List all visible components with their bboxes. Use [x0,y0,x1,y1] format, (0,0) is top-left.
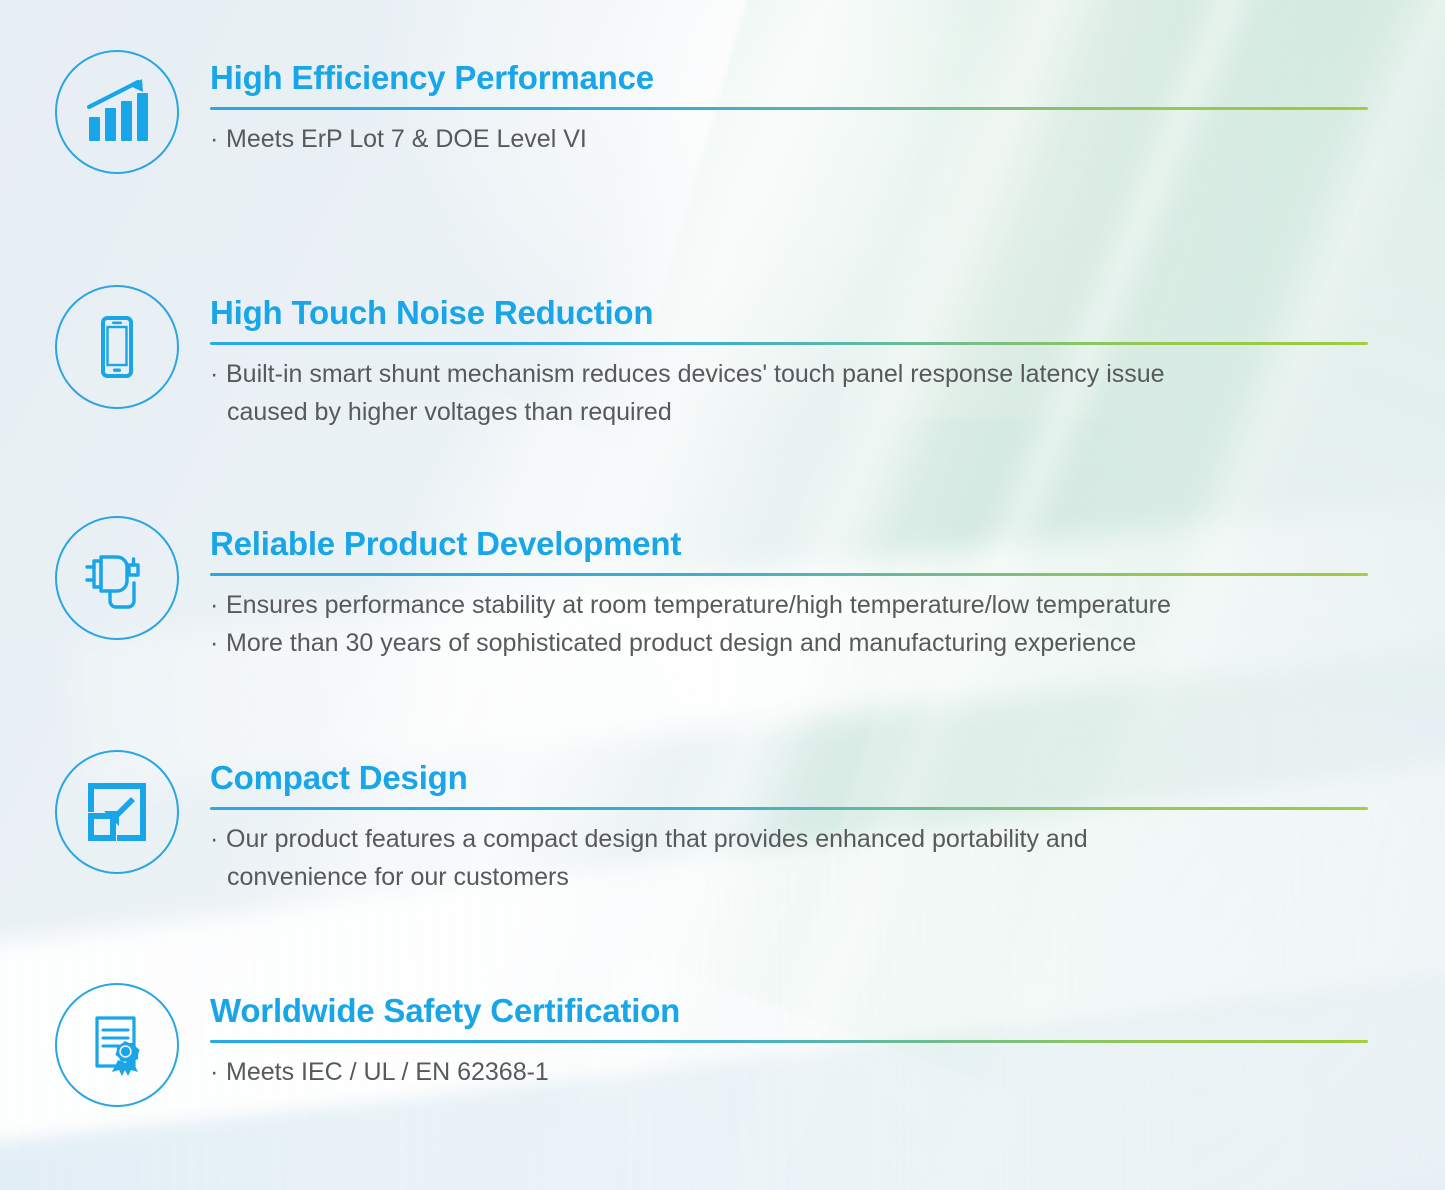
feature-highlights-page: High Efficiency Performance ·Meets ErP L… [0,0,1445,1190]
bullet-item: ·Our product features a compact design t… [210,820,1370,858]
bullet-text: More than 30 years of sophisticated prod… [226,629,1136,657]
feature-body: High Efficiency Performance ·Meets ErP L… [210,58,1370,158]
feature-bullets: ·Ensures performance stability at room t… [210,586,1370,662]
feature-body: High Touch Noise Reduction ·Built-in sma… [210,293,1370,431]
feature-divider [210,1040,1368,1043]
bullet-text: Built-in smart shunt mechanism reduces d… [226,360,1165,388]
feature-divider [210,342,1368,345]
bullet-marker: · [210,586,226,624]
feature-title: Reliable Product Development [210,524,1370,564]
certificate-seal-icon [55,983,179,1107]
bullet-text: Meets ErP Lot 7 & DOE Level VI [226,125,587,153]
bullet-marker: · [210,120,226,158]
feature-bullets: ·Built-in smart shunt mechanism reduces … [210,355,1370,431]
bullet-marker: · [210,820,226,858]
bullet-item: ·Ensures performance stability at room t… [210,586,1370,624]
feature-divider [210,107,1368,110]
bullet-item: ·Meets IEC / UL / EN 62368-1 [210,1053,1370,1091]
feature-body: Compact Design ·Our product features a c… [210,758,1370,896]
power-adapter-icon [55,516,179,640]
feature-title: Compact Design [210,758,1370,798]
bullet-marker: · [210,1053,226,1091]
feature-body: Worldwide Safety Certification ·Meets IE… [210,991,1370,1091]
feature-bullets: ·Our product features a compact design t… [210,820,1370,896]
smartphone-icon [55,285,179,409]
bullet-item: ·Meets ErP Lot 7 & DOE Level VI [210,120,1370,158]
bullet-text: Our product features a compact design th… [226,825,1088,853]
bullet-marker: · [210,355,226,393]
bullet-text-continued: convenience for our customers [210,858,1370,896]
bullet-text-continued: caused by higher voltages than required [210,393,1370,431]
feature-divider [210,573,1368,576]
bullet-item: ·Built-in smart shunt mechanism reduces … [210,355,1370,393]
bar-chart-growth-icon [55,50,179,174]
bullet-text: Ensures performance stability at room te… [226,591,1171,619]
feature-bullets: ·Meets IEC / UL / EN 62368-1 [210,1053,1370,1091]
feature-title: High Efficiency Performance [210,58,1370,98]
bullet-text: Meets IEC / UL / EN 62368-1 [226,1058,549,1086]
feature-bullets: ·Meets ErP Lot 7 & DOE Level VI [210,120,1370,158]
feature-body: Reliable Product Development ·Ensures pe… [210,524,1370,662]
bullet-item: ·More than 30 years of sophisticated pro… [210,624,1370,662]
feature-divider [210,807,1368,810]
bullet-marker: · [210,624,226,662]
compact-resize-icon [55,750,179,874]
feature-title: Worldwide Safety Certification [210,991,1370,1031]
feature-title: High Touch Noise Reduction [210,293,1370,333]
